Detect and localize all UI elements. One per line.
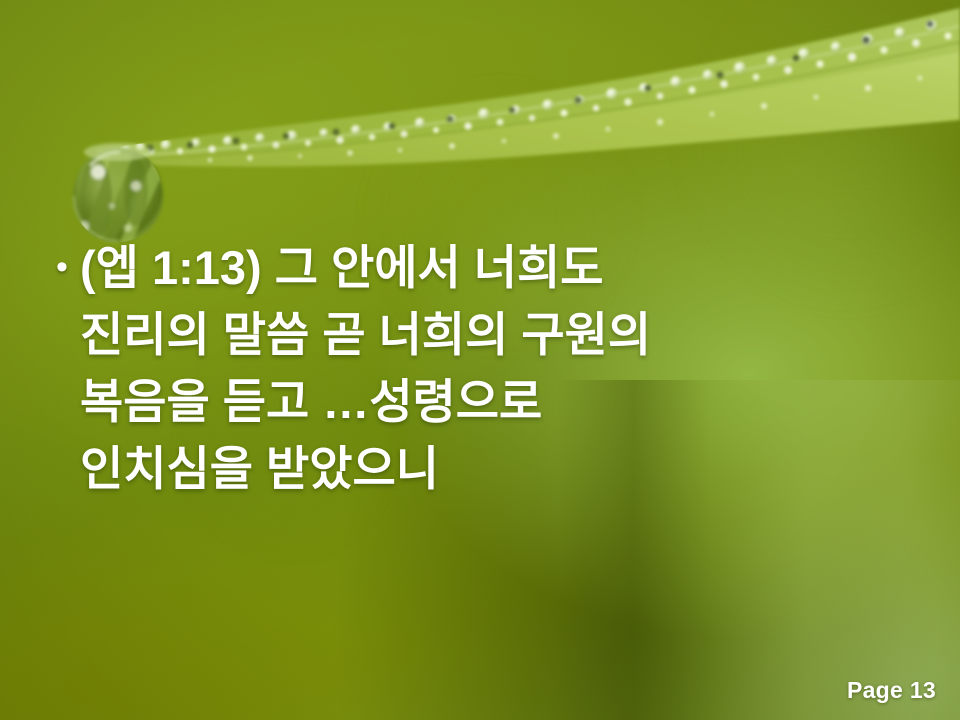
verse-row: • (엡 1:13) 그 안에서 너희도 진리의 말씀 곧 너희의 구원의 복음… bbox=[46, 234, 926, 502]
verse-line-1: (엡 1:13) 그 안에서 너희도 bbox=[80, 234, 926, 301]
verse-lines: (엡 1:13) 그 안에서 너희도 진리의 말씀 곧 너희의 구원의 복음을 … bbox=[80, 234, 926, 502]
verse-text-block: • (엡 1:13) 그 안에서 너희도 진리의 말씀 곧 너희의 구원의 복음… bbox=[46, 234, 926, 502]
verse-line-4: 인치심을 받았으니 bbox=[80, 435, 926, 502]
verse-line-2: 진리의 말씀 곧 너희의 구원의 bbox=[80, 301, 926, 368]
page-number-label: Page 13 bbox=[847, 677, 936, 704]
verse-line-3: 복음을 듣고 …성령으로 bbox=[80, 368, 926, 435]
presentation-slide: • (엡 1:13) 그 안에서 너희도 진리의 말씀 곧 너희의 구원의 복음… bbox=[0, 0, 960, 720]
bullet-point: • bbox=[46, 234, 80, 300]
